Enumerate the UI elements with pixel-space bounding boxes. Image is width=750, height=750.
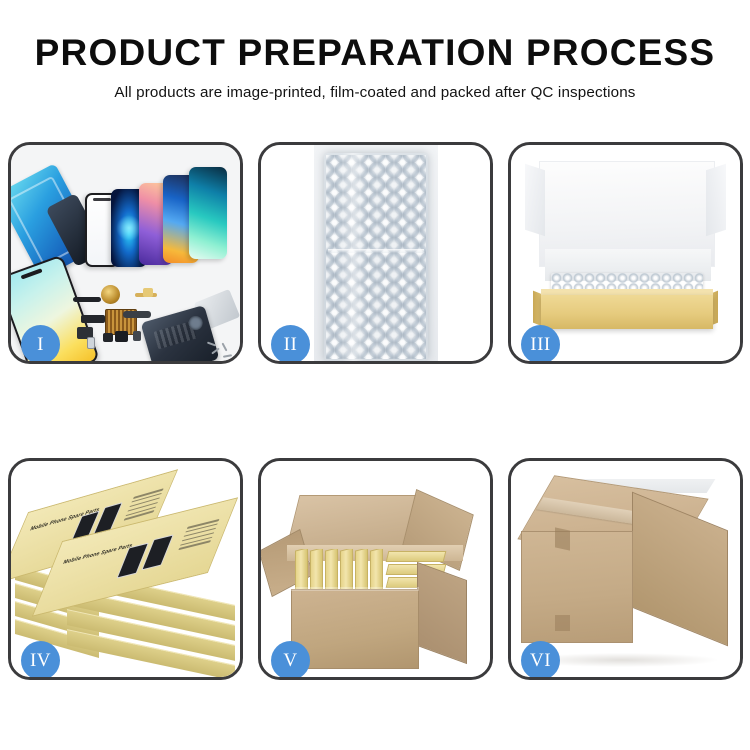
page-header: PRODUCT PREPARATION PROCESS All products… bbox=[0, 0, 750, 101]
flex-cable-f bbox=[123, 311, 151, 318]
flex-cable-d bbox=[81, 315, 105, 323]
pouch-highlight bbox=[342, 153, 364, 361]
step-badge-3: III bbox=[521, 325, 560, 364]
step-panel-3: III bbox=[508, 142, 743, 364]
speaker-module bbox=[103, 333, 113, 342]
step-panel-4: Mobile Phone Spare Parts Mobile Phone Sp… bbox=[8, 458, 243, 680]
step-panel-1: I bbox=[8, 142, 243, 364]
camera-module bbox=[115, 331, 128, 342]
side-button-part bbox=[133, 331, 141, 341]
carton-seal-mark-bottom bbox=[555, 615, 570, 631]
step-badge-2: II bbox=[271, 325, 310, 364]
screws-group bbox=[207, 341, 235, 361]
carton-fold-line bbox=[291, 587, 419, 591]
step-badge-1: I bbox=[21, 325, 60, 364]
flex-cable-a bbox=[73, 297, 101, 302]
carton-seal-mark-top bbox=[555, 527, 570, 550]
carton-side-face bbox=[417, 562, 467, 664]
sim-tray-part bbox=[87, 337, 95, 349]
step-panel-5: V bbox=[258, 458, 493, 680]
carton-front-face bbox=[291, 589, 419, 669]
mailer-lid-flap-left bbox=[525, 164, 545, 236]
process-step-grid: I II III bbox=[8, 142, 742, 680]
bubble-wrap-pouch bbox=[324, 153, 428, 361]
mailer-lid-flap-right bbox=[706, 164, 726, 236]
wireless-charging-coil bbox=[101, 285, 120, 304]
page-subtitle: All products are image-printed, film-coa… bbox=[0, 84, 750, 101]
step-badge-5: V bbox=[271, 641, 310, 680]
packed-box-7 bbox=[386, 551, 447, 562]
sealed-carton-side-face bbox=[632, 492, 728, 647]
step-badge-6: VI bbox=[521, 641, 560, 680]
page-title: PRODUCT PREPARATION PROCESS bbox=[0, 34, 750, 73]
bubble-row-layer-2 bbox=[326, 155, 426, 359]
step-panel-6: VI bbox=[508, 458, 743, 680]
step-badge-4: IV bbox=[21, 641, 60, 680]
step-panel-2: II bbox=[258, 142, 493, 364]
mailer-tray-front bbox=[541, 295, 713, 329]
sealed-carton-front-face bbox=[521, 531, 633, 643]
flex-cable-c bbox=[143, 288, 153, 297]
phone-screen-teal bbox=[189, 167, 227, 259]
